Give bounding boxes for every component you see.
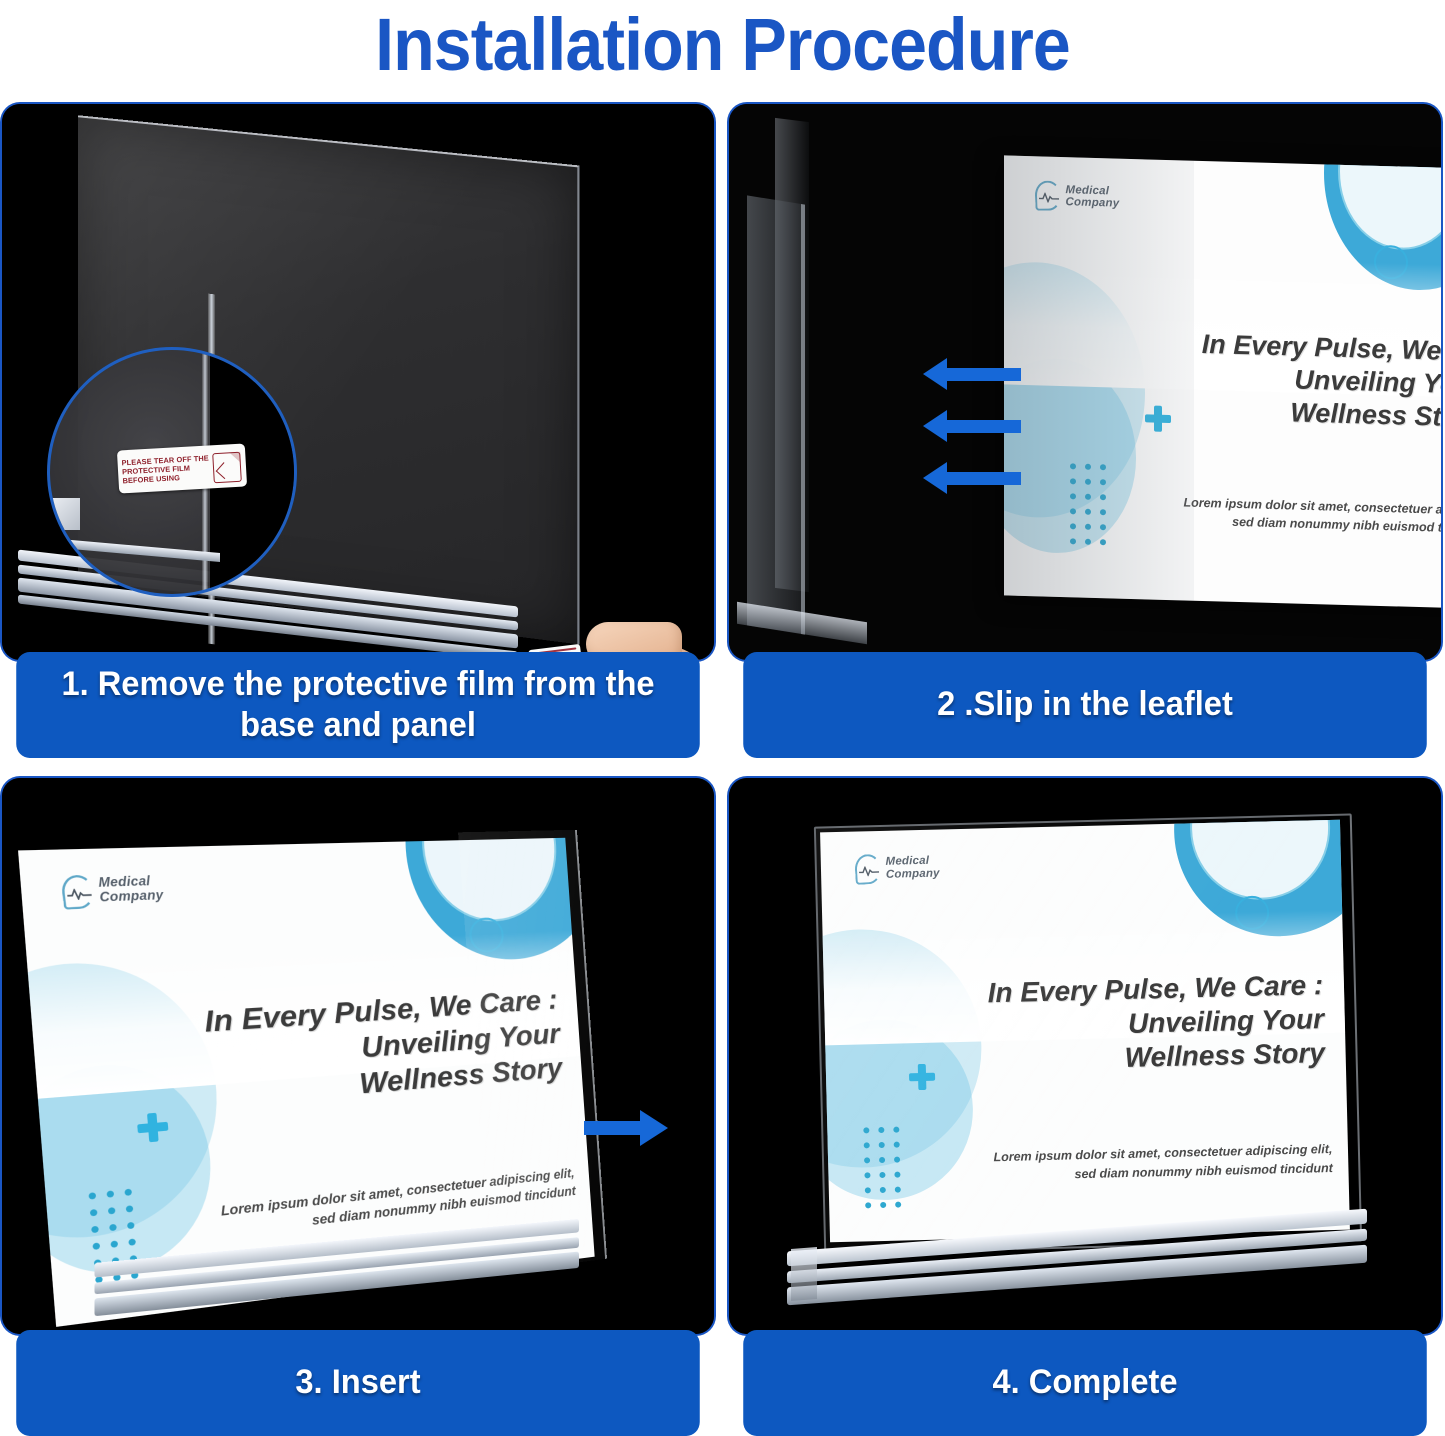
installation-procedure-infographic: Installation Procedure <box>0 0 1445 1436</box>
step-4-caption: 4. Complete <box>743 1330 1427 1436</box>
acrylic-panel-front <box>747 195 805 634</box>
step-1-caption: 1. Remove the protective film from the b… <box>16 652 700 758</box>
logo-line-2: Company <box>99 889 164 905</box>
step-2-photo: Medical Company In Every Pulse, We Ca Un… <box>729 104 1441 660</box>
insertion-arrows <box>945 362 1041 507</box>
arrow-left-icon <box>945 368 1021 381</box>
heartbeat-drop-icon <box>854 853 881 884</box>
steps-grid: PLEASE TEAR OFF THE PROTECTIVE FILM BEFO… <box>0 104 1445 1436</box>
leaflet-logo: Medical Company <box>854 852 940 884</box>
step-card-4: Medical Company In Every Pulse, We Care … <box>729 778 1441 1436</box>
step-card-2: Medical Company In Every Pulse, We Ca Un… <box>729 104 1441 758</box>
page-title: Installation Procedure <box>58 0 1387 92</box>
step-1-photo: PLEASE TEAR OFF THE PROTECTIVE FILM BEFO… <box>2 104 714 660</box>
step-3-caption: 3. Insert <box>16 1330 700 1436</box>
arrow-left-icon <box>945 472 1021 485</box>
arrow-left-icon <box>945 420 1021 433</box>
acrylic-base-foot <box>791 1247 817 1301</box>
leaflet-sliding-in: Medical Company In Every Pulse, We Ca Un… <box>1004 155 1441 608</box>
step-2-caption: 2 .Slip in the leaflet <box>743 652 1427 758</box>
leaflet-headline: In Every Pulse, We Care : Unveiling Your… <box>896 968 1325 1081</box>
pulse-line-icon <box>66 888 91 900</box>
warning-label: PLEASE TEAR OFF THE PROTECTIVE FILM BEFO… <box>117 443 247 493</box>
step-card-1: PLEASE TEAR OFF THE PROTECTIVE FILM BEFO… <box>2 104 714 758</box>
heartbeat-drop-icon <box>60 875 94 910</box>
leaflet-artwork: Medical Company In Every Pulse, We Care … <box>820 820 1350 1243</box>
peel-corner-icon <box>212 452 242 484</box>
magnifier-circle: PLEASE TEAR OFF THE PROTECTIVE FILM BEFO… <box>47 347 297 597</box>
pulse-line-icon <box>859 866 879 876</box>
step-4-photo: Medical Company In Every Pulse, We Care … <box>729 778 1441 1334</box>
arrow-right-icon <box>584 1121 642 1135</box>
leaflet-installed: Medical Company In Every Pulse, We Care … <box>820 820 1350 1243</box>
step-card-3: Medical Company In Every Pulse, We Care … <box>2 778 714 1436</box>
logo-line-2: Company <box>886 867 940 881</box>
step-3-photo: Medical Company In Every Pulse, We Care … <box>2 778 714 1334</box>
leaflet-logo: Medical Company <box>60 873 164 910</box>
